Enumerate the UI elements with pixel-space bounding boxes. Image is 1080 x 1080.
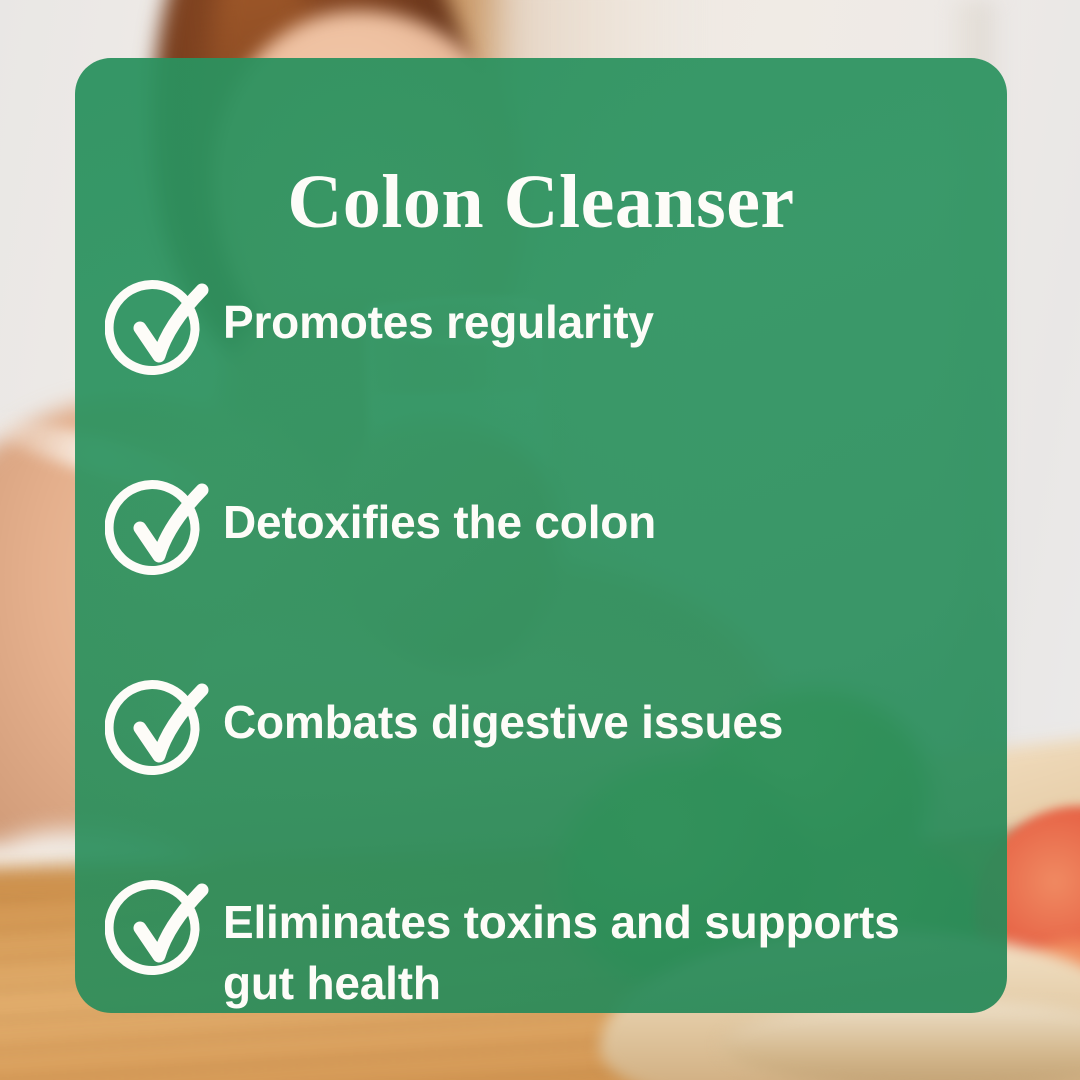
product-benefit-graphic: Colon Cleanser Promotes regularity bbox=[0, 0, 1080, 1080]
benefits-card: Colon Cleanser Promotes regularity bbox=[75, 58, 1007, 1013]
benefit-item: Combats digestive issues bbox=[105, 680, 981, 880]
benefit-label: Combats digestive issues bbox=[223, 680, 923, 753]
benefit-label: Promotes regularity bbox=[223, 280, 923, 353]
benefit-label: Eliminates toxins and supports gut healt… bbox=[223, 880, 923, 1013]
check-circle-icon bbox=[105, 680, 223, 784]
benefit-item: Eliminates toxins and supports gut healt… bbox=[105, 880, 981, 1013]
benefit-item: Promotes regularity bbox=[105, 280, 981, 480]
benefits-list: Promotes regularity Detoxifies the colon bbox=[105, 280, 981, 1013]
check-circle-icon bbox=[105, 880, 223, 984]
check-circle-icon bbox=[105, 280, 223, 384]
benefit-label: Detoxifies the colon bbox=[223, 480, 923, 553]
check-circle-icon bbox=[105, 480, 223, 584]
benefit-item: Detoxifies the colon bbox=[105, 480, 981, 680]
product-title: Colon Cleanser bbox=[75, 164, 1007, 240]
